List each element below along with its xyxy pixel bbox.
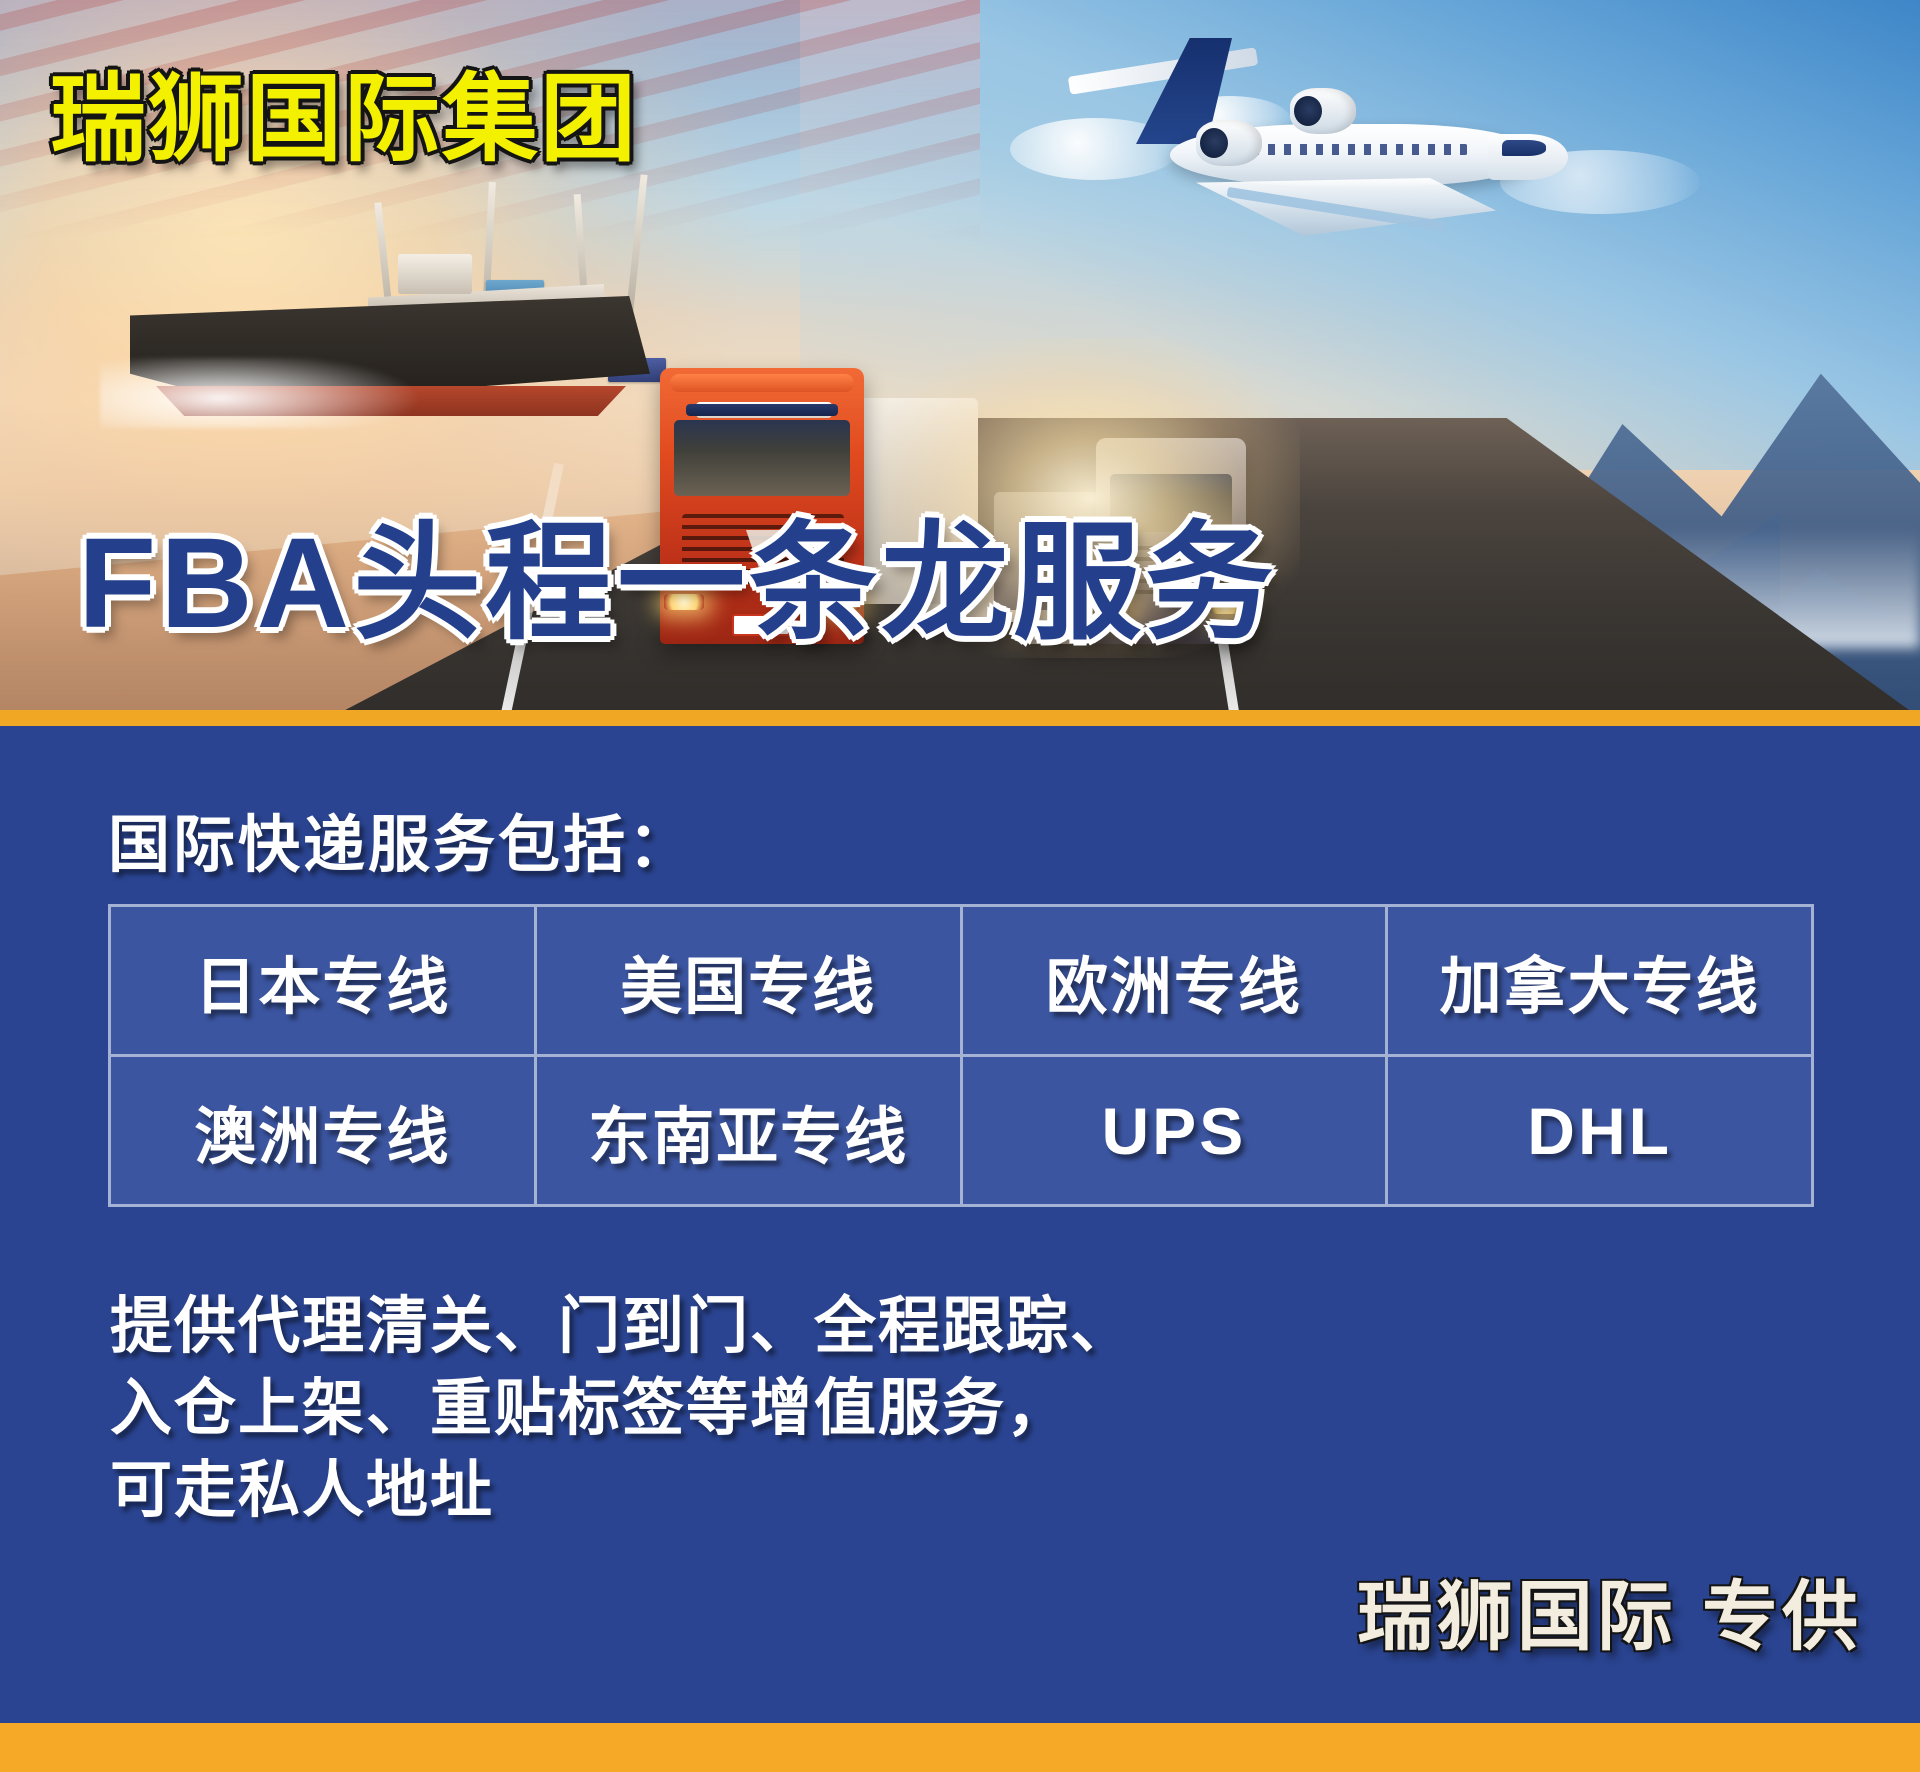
bottom-accent-bar [0,1723,1920,1772]
section-title: 国际快递服务包括： [108,794,693,884]
company-logo-text: 瑞狮国际集团 [50,72,638,168]
service-cell-europe[interactable]: 欧洲专线 [961,906,1387,1056]
feature-line-1: 提供代理清关、门到门、全程跟踪、 [110,1286,1134,1368]
cargo-ship-icon [130,232,690,422]
content-panel: 国际快递服务包括： 日本专线 美国专线 欧洲专线 加拿大专线 澳洲专线 东南亚专… [0,726,1920,1723]
feature-line-3: 可走私人地址 [110,1450,1134,1532]
poster-root: 瑞狮国际集团 FBA头程一条龙服务 国际快递服务包括： 日本专线 美国专线 欧洲… [0,0,1920,1772]
service-cell-ups[interactable]: UPS [961,1056,1387,1206]
footer-brand-mark: 瑞狮国际 专供 [1357,1555,1862,1665]
table-row: 澳洲专线 东南亚专线 UPS DHL [110,1056,1813,1206]
service-cell-canada[interactable]: 加拿大专线 [1387,906,1813,1056]
table-row: 日本专线 美国专线 欧洲专线 加拿大专线 [110,906,1813,1056]
features-block: 提供代理清关、门到门、全程跟踪、 入仓上架、重贴标签等增值服务， 可走私人地址 [110,1286,1134,1531]
service-cell-japan[interactable]: 日本专线 [110,906,536,1056]
airplane-icon [1050,28,1570,248]
service-cell-dhl[interactable]: DHL [1387,1056,1813,1206]
gold-divider [0,710,1920,726]
service-cell-usa[interactable]: 美国专线 [535,906,961,1056]
services-table: 日本专线 美国专线 欧洲专线 加拿大专线 澳洲专线 东南亚专线 UPS DHL [108,904,1814,1207]
hero-headline: FBA头程一条龙服务 [78,520,1277,648]
service-cell-southeast-asia[interactable]: 东南亚专线 [535,1056,961,1206]
feature-line-2: 入仓上架、重贴标签等增值服务， [110,1368,1134,1450]
service-cell-australia[interactable]: 澳洲专线 [110,1056,536,1206]
